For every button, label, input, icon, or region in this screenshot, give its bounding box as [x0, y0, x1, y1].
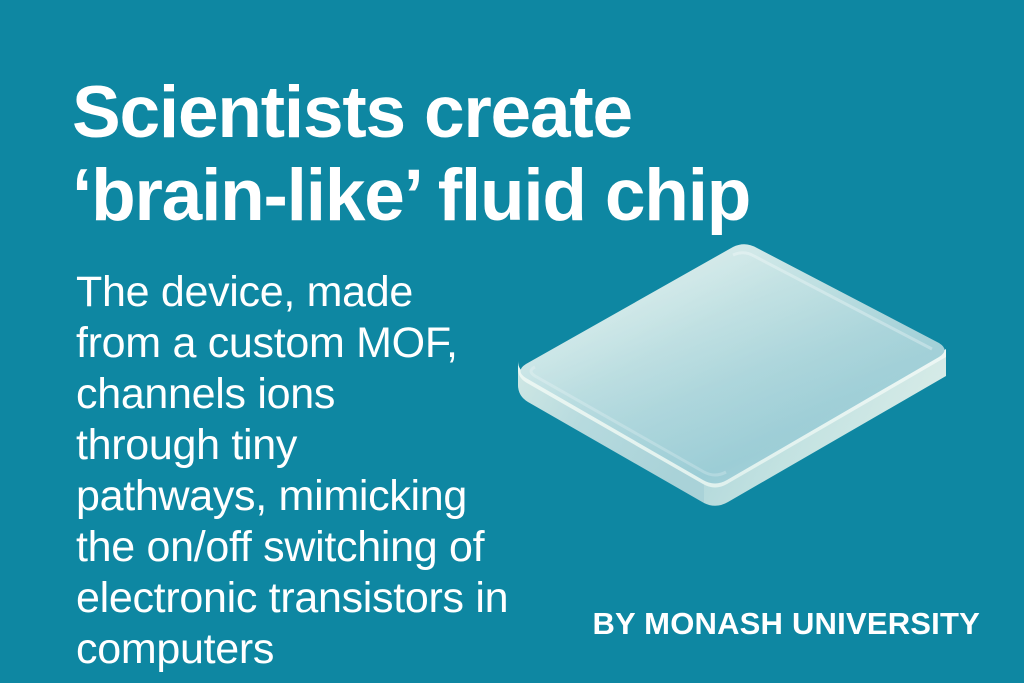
page-title: Scientists create ‘brain-like’ fluid chi…	[72, 71, 972, 237]
news-graphic-card: Scientists create ‘brain-like’ fluid chi…	[0, 0, 1024, 683]
byline: BY MONASH UNIVERSITY	[592, 606, 980, 642]
article-summary: The device, made from a custom MOF, chan…	[76, 267, 606, 675]
